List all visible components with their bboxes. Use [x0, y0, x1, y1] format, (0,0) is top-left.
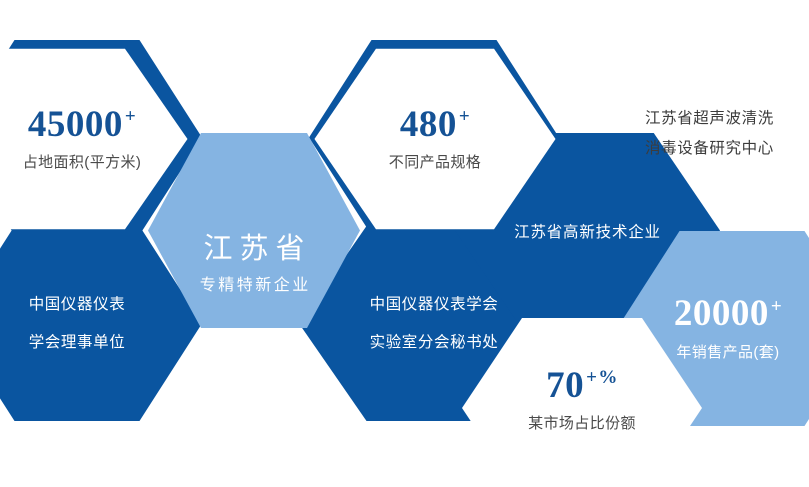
research-center-note-line-1: 江苏省超声波清洗	[645, 104, 774, 134]
market-share-superscript: +	[586, 367, 597, 388]
market-share-label: 某市场占比份额	[528, 412, 636, 433]
product-specs-superscript: +	[459, 106, 470, 127]
site-area-number: 45000+	[23, 106, 142, 145]
research-center-note-line-2: 消毒设备研究中心	[645, 134, 774, 164]
annual-sales-label: 年销售产品(套)	[674, 341, 782, 362]
jiangsu-badge-subtitle: 专精特新企业	[196, 271, 311, 295]
product-specs-value: 480	[400, 104, 457, 145]
product-specs-number: 480+	[389, 106, 481, 145]
hex-site-area[interactable]: 45000+ 占地面积(平方米)	[0, 46, 190, 232]
annual-sales-number: 20000+	[674, 295, 782, 334]
research-center-note: 江苏省超声波清洗 消毒设备研究中心	[645, 104, 774, 164]
infographic-canvas: 中国仪器仪表 学会理事单位 中国仪器仪表学会 实验室分会秘书处 江苏省高新技术企…	[0, 0, 809, 487]
product-specs-label: 不同产品规格	[389, 151, 481, 172]
site-area-superscript: +	[125, 106, 136, 127]
site-area-label: 占地面积(平方米)	[23, 151, 142, 172]
market-share-number: 70+%	[528, 367, 636, 406]
instrument-society-line-2: 学会理事单位	[29, 335, 126, 351]
annual-sales-superscript: +	[771, 296, 782, 317]
instrument-society-line-1: 中国仪器仪表	[29, 297, 126, 313]
lab-branch-line-1: 中国仪器仪表学会	[370, 297, 499, 313]
lab-branch-line-2: 实验室分会秘书处	[370, 335, 499, 351]
jiangsu-badge-title: 江苏省	[196, 225, 311, 267]
site-area-value: 45000	[28, 104, 123, 145]
annual-sales-value: 20000	[674, 293, 769, 334]
market-share-percent: %	[598, 367, 618, 388]
market-share-value: 70	[546, 365, 584, 406]
high-tech-label: 江苏省高新技术企业	[514, 220, 661, 242]
